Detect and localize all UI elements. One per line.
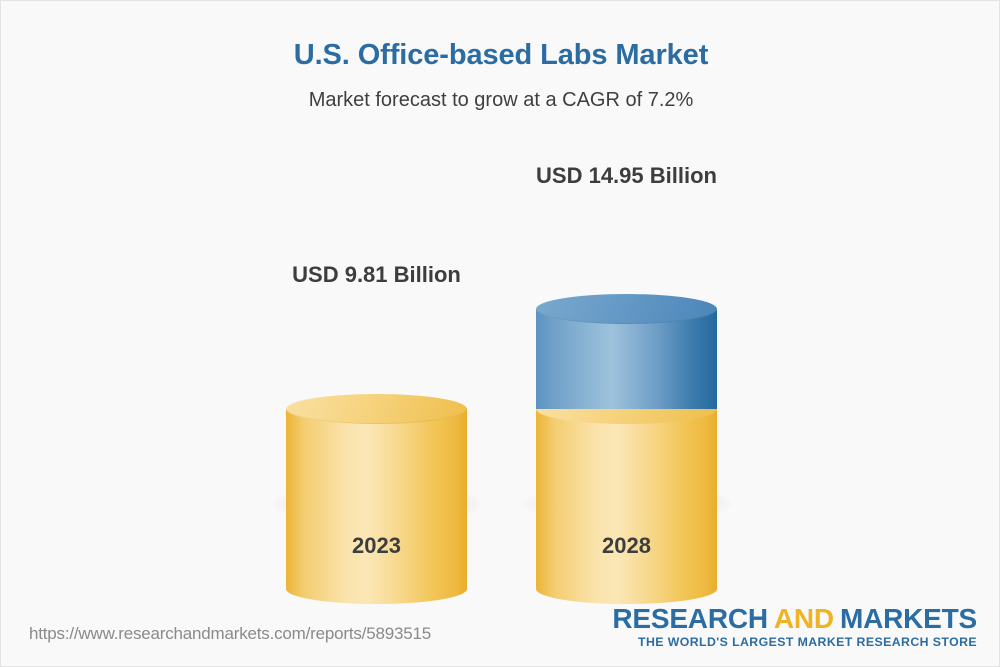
logo-word-markets: MARKETS [840, 603, 977, 634]
value-label-2028: USD 14.95 Billion [516, 163, 737, 189]
cylinder-top-cap-2023 [286, 394, 467, 424]
logo-tagline: THE WORLD'S LARGEST MARKET RESEARCH STOR… [612, 635, 977, 650]
cylinder-body-blue-2028 [536, 309, 717, 409]
bar-2023[interactable] [286, 91, 467, 601]
infographic-card: U.S. Office-based Labs Market Market for… [0, 0, 1000, 667]
chart-plot-area: USD 9.81 Billion 2023 USD 14.95 Bil [1, 1, 1000, 601]
cylinder-body-yellow-2023 [286, 409, 467, 589]
cylinder-segment-yellow-2028 [536, 394, 717, 601]
logo-wordmark: RESEARCHANDMARKETS [612, 604, 977, 633]
cylinder-2023 [286, 394, 467, 601]
source-url[interactable]: https://www.researchandmarkets.com/repor… [29, 624, 431, 644]
brand-logo[interactable]: RESEARCHANDMARKETS THE WORLD'S LARGEST M… [612, 604, 977, 650]
category-label-2028: 2028 [536, 533, 717, 559]
logo-word-research: RESEARCH [612, 603, 768, 634]
cylinder-bottom-cap-2028 [536, 574, 717, 604]
category-label-2023: 2023 [286, 533, 467, 559]
cylinder-bottom-cap-2023 [286, 574, 467, 604]
value-label-2023: USD 9.81 Billion [286, 262, 467, 288]
logo-word-and: AND [774, 603, 834, 634]
cylinder-body-yellow-2028 [536, 409, 717, 589]
cylinder-segment-blue-2028 [536, 294, 717, 409]
cylinder-top-cap-2028 [536, 294, 717, 324]
